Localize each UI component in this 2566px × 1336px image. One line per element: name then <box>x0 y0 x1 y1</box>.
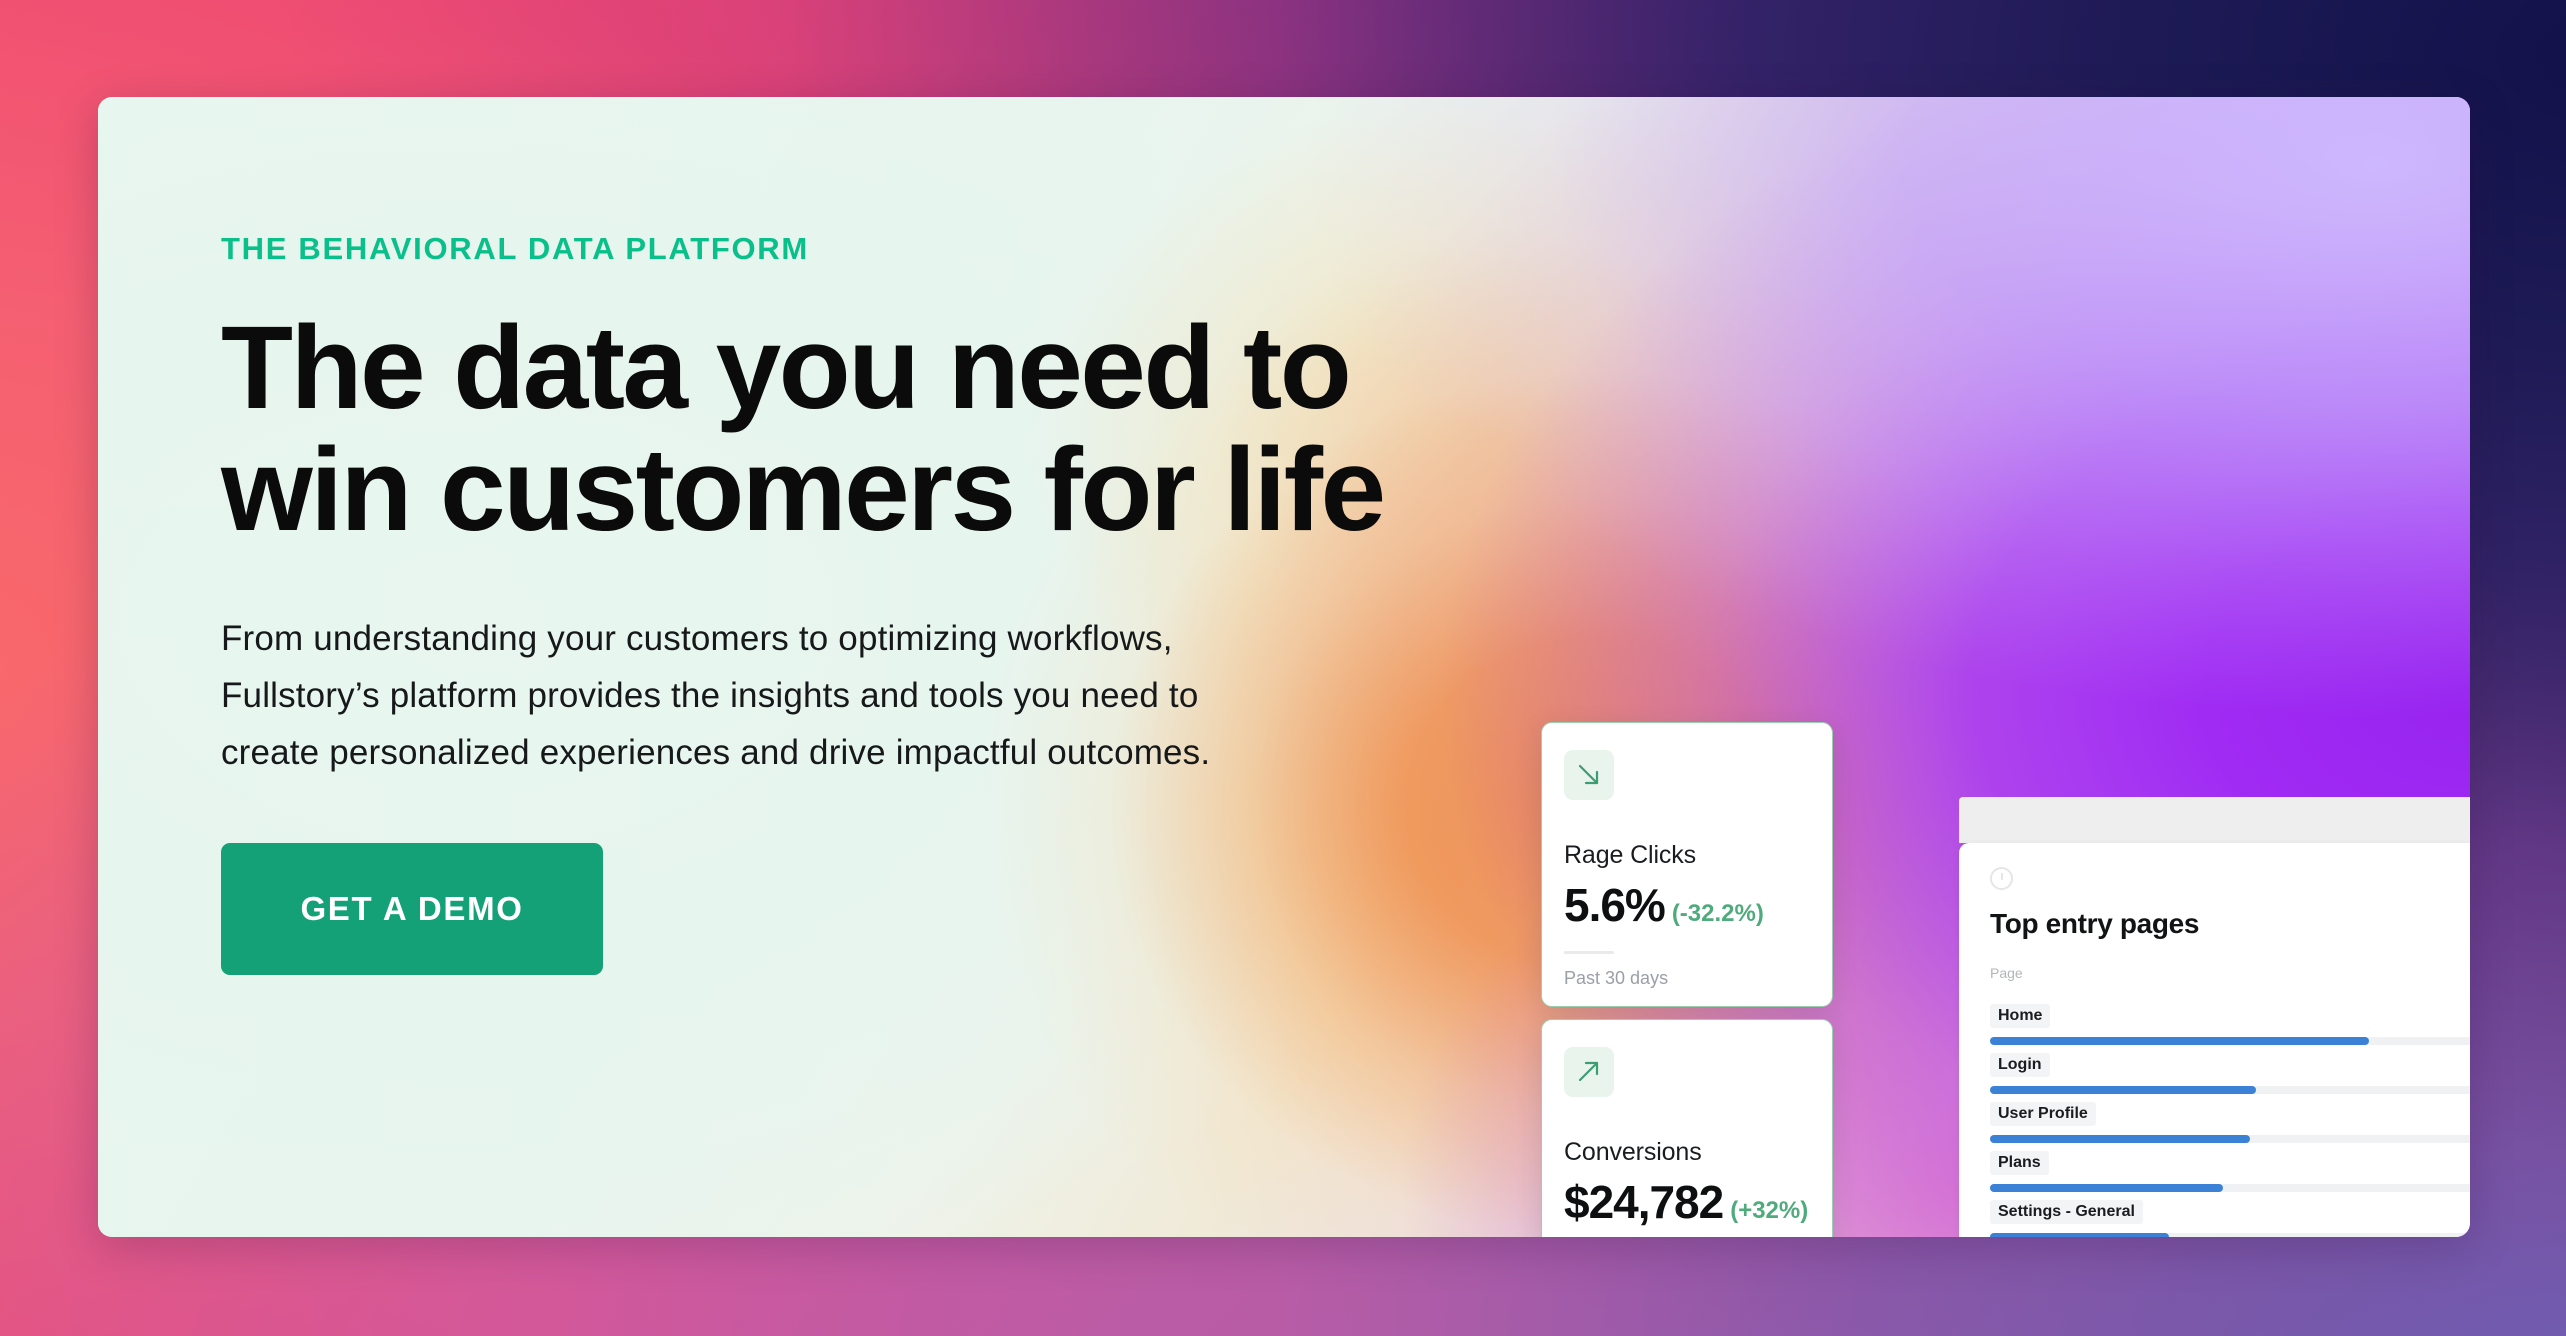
page-background: THE BEHAVIORAL DATA PLATFORM The data yo… <box>0 0 2566 1336</box>
get-a-demo-button[interactable]: GET A DEMO <box>221 843 603 975</box>
arrow-down-right-icon <box>1564 750 1614 800</box>
session-bar-fill <box>1990 1135 2250 1143</box>
hero-card: THE BEHAVIORAL DATA PLATFORM The data yo… <box>98 97 2470 1237</box>
metric-label: Rage Clicks <box>1564 841 1696 870</box>
eyebrow-text: THE BEHAVIORAL DATA PLATFORM <box>221 232 1421 266</box>
hero-copy-column: THE BEHAVIORAL DATA PLATFORM The data yo… <box>221 232 1421 975</box>
metric-value: 5.6% <box>1564 878 1665 932</box>
clock-icon <box>1990 867 2013 890</box>
metric-label: Conversions <box>1564 1138 1702 1167</box>
entry-pages-table: Page Sessions Home450.2KLogin312.5KUser … <box>1990 965 2470 1237</box>
panel-title: Top entry pages <box>1990 908 2199 940</box>
session-bar-track <box>1990 1233 2470 1237</box>
metric-card-rage-clicks[interactable]: Rage Clicks 5.6% (-32.2%) Past 30 days <box>1541 722 1833 1007</box>
table-row[interactable]: Settings - General212.6K <box>1990 1198 2470 1237</box>
table-row[interactable]: Home450.2K <box>1990 1002 2470 1045</box>
metric-delta: (-32.2%) <box>1672 900 1764 928</box>
row-page-label: Plans <box>1990 1151 2049 1175</box>
session-bar-track <box>1990 1184 2470 1192</box>
table-row[interactable]: Login312.5K <box>1990 1051 2470 1094</box>
headline-line-1: The data you need to <box>221 308 1421 430</box>
arrow-up-right-icon <box>1564 1047 1614 1097</box>
metric-period: Past 30 days <box>1564 968 1668 989</box>
session-bar-fill <box>1990 1086 2256 1094</box>
page-title: The data you need to win customers for l… <box>221 308 1421 551</box>
session-bar-fill <box>1990 1184 2223 1192</box>
row-page-label: Home <box>1990 1004 2050 1028</box>
row-page-label: Settings - General <box>1990 1200 2143 1224</box>
metric-card-conversions[interactable]: Conversions $24,782 (+32%) Past 30 days <box>1541 1019 1833 1237</box>
row-page-label: Login <box>1990 1053 2050 1077</box>
dashboard-mock: Top entry pages Page Sessions Home450.2K… <box>1959 797 2470 1237</box>
session-bar-fill <box>1990 1037 2369 1045</box>
column-header-page: Page <box>1990 965 2023 981</box>
table-row[interactable]: Plans274.1K <box>1990 1149 2470 1192</box>
table-header-row: Page Sessions <box>1990 965 2470 981</box>
hero-subcopy: From understanding your customers to opt… <box>221 611 1246 781</box>
table-row[interactable]: User Profile307.7K <box>1990 1100 2470 1143</box>
dashboard-chrome-bar <box>1959 797 2470 843</box>
metric-value-row: 5.6% (-32.2%) <box>1564 878 1764 932</box>
metric-value: $24,782 <box>1564 1175 1723 1229</box>
metric-value-row: $24,782 (+32%) <box>1564 1175 1808 1229</box>
session-bar-track <box>1990 1086 2470 1094</box>
row-page-label: User Profile <box>1990 1102 2096 1126</box>
session-bar-fill <box>1990 1233 2169 1237</box>
metric-delta: (+32%) <box>1730 1197 1808 1225</box>
session-bar-track <box>1990 1135 2470 1143</box>
headline-line-2: win customers for life <box>221 430 1421 552</box>
session-bar-track <box>1990 1037 2470 1045</box>
divider <box>1564 951 1614 954</box>
top-entry-pages-panel: Top entry pages Page Sessions Home450.2K… <box>1959 843 2470 1237</box>
